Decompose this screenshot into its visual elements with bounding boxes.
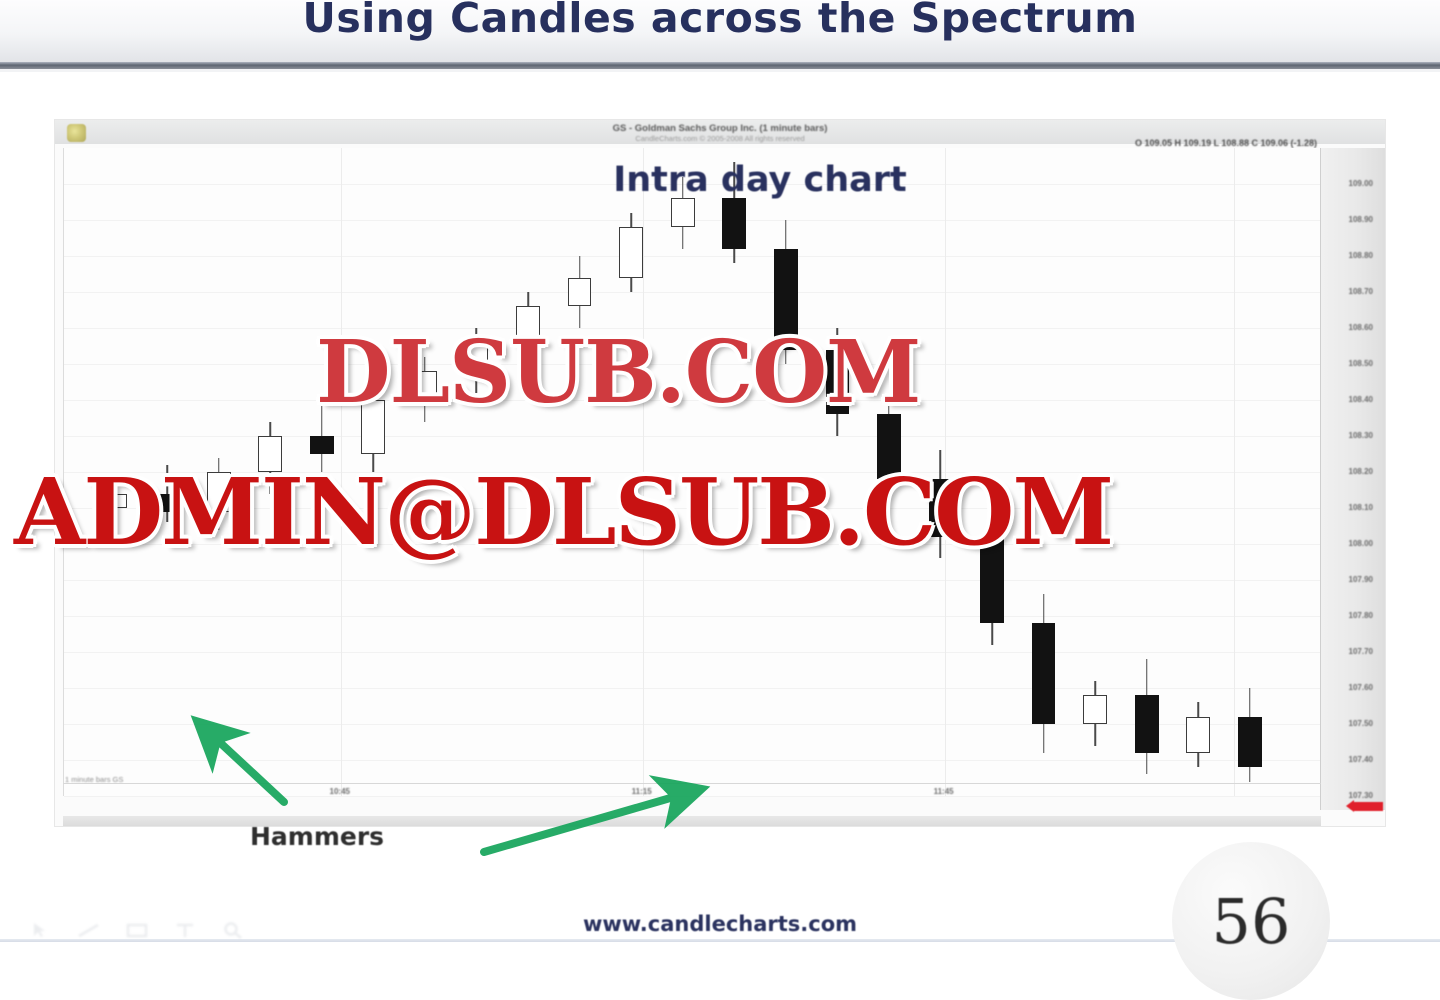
- candlestick: [1238, 148, 1262, 796]
- time-axis-tick: 11:45: [934, 787, 954, 796]
- annotation-toolbar[interactable]: [28, 904, 246, 940]
- price-axis-tick: 108.80: [1349, 251, 1373, 260]
- price-axis-tick: 108.00: [1349, 539, 1373, 548]
- price-axis-tick: 108.20: [1349, 467, 1373, 476]
- price-axis-tick: 108.30: [1349, 431, 1373, 440]
- price-axis-tick: 108.90: [1349, 215, 1373, 224]
- price-axis-tick: 108.10: [1349, 503, 1373, 512]
- candle-body: [1032, 623, 1056, 724]
- watermark-site: DLSUB.COM: [316, 330, 920, 416]
- candle-body: [1186, 717, 1210, 753]
- trendline-tool-icon[interactable]: [76, 920, 102, 940]
- candle-body: [722, 198, 746, 248]
- page-number-badge: 56: [1172, 842, 1330, 1000]
- price-axis-tick: 107.80: [1349, 611, 1373, 620]
- zoom-tool-icon[interactable]: [220, 920, 246, 940]
- hammers-annotation-label: Hammers: [250, 822, 384, 851]
- title-divider: [0, 62, 1440, 69]
- candle-body: [619, 227, 643, 277]
- price-axis-tick: 107.40: [1349, 755, 1373, 764]
- price-axis-tick: 107.90: [1349, 575, 1373, 584]
- rectangle-tool-icon[interactable]: [124, 920, 150, 940]
- page-number-text: 56: [1212, 885, 1291, 958]
- price-axis-tick: 108.70: [1349, 287, 1373, 296]
- candle-body: [568, 278, 592, 307]
- price-axis-tick: 109.00: [1349, 179, 1373, 188]
- text-tool-icon[interactable]: [172, 920, 198, 940]
- chart-status-label: 1 minute bars GS: [65, 775, 123, 784]
- chart-quote-readout: O 109.05 H 109.19 L 108.88 C 109.06 (-1.…: [1135, 138, 1317, 148]
- candle-body: [1083, 695, 1107, 724]
- page-title: Using Candles across the Spectrum: [0, 0, 1440, 42]
- chart-gridline: [1234, 148, 1235, 796]
- candlestick: [1186, 148, 1210, 796]
- price-axis-tick: 107.60: [1349, 683, 1373, 692]
- slide-title-band: Using Candles across the Spectrum: [0, 0, 1440, 62]
- chart-symbol-label: GS - Goldman Sachs Group Inc. (1 minute …: [55, 123, 1385, 134]
- pointer-tool-icon[interactable]: [28, 920, 54, 940]
- price-axis[interactable]: 109.00108.90108.80108.70108.60108.50108.…: [1320, 148, 1385, 810]
- watermark-email: ADMIN@DLSUB.COM: [14, 466, 1112, 558]
- time-axis-tick: 10:45: [330, 787, 350, 796]
- intraday-chart-label: Intra day chart: [560, 160, 960, 200]
- price-axis-tick: 108.40: [1349, 395, 1373, 404]
- candle-body: [671, 198, 695, 227]
- green-arrow-up-left-icon: [180, 702, 300, 822]
- green-arrow-right-icon: [470, 762, 730, 872]
- price-axis-tick: 108.50: [1349, 359, 1373, 368]
- price-axis-tick: 107.70: [1349, 647, 1373, 656]
- candle-body: [1135, 695, 1159, 753]
- price-axis-tick: 108.60: [1349, 323, 1373, 332]
- candle-body: [1238, 717, 1262, 767]
- candle-body: [310, 436, 334, 454]
- current-price-marker-icon: [1353, 802, 1383, 811]
- candlestick: [1135, 148, 1159, 796]
- price-axis-tick: 107.50: [1349, 719, 1373, 728]
- price-axis-tick: 107.30: [1349, 791, 1373, 800]
